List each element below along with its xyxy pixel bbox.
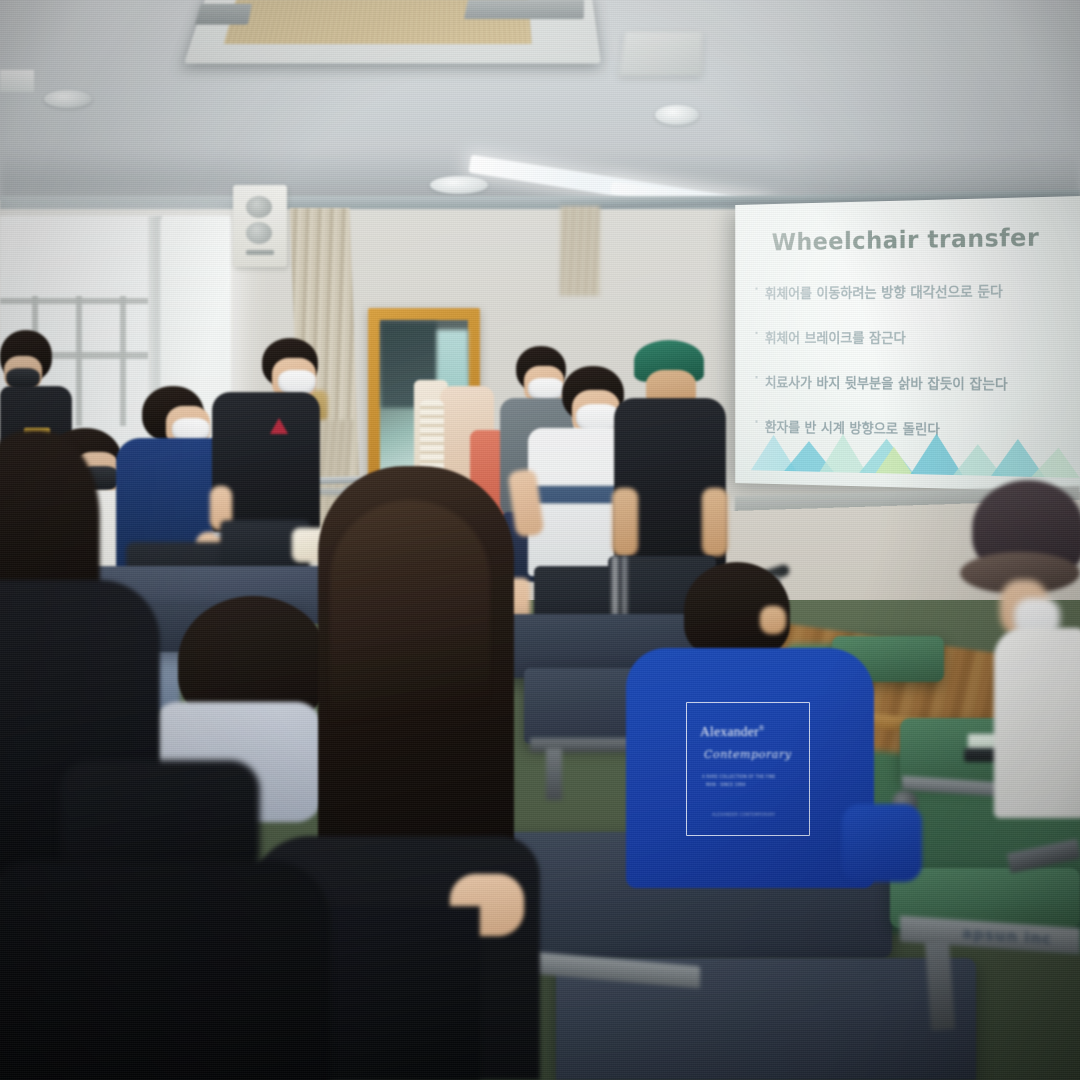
speaker-cone-icon xyxy=(246,222,272,244)
foreground-dark-mass xyxy=(0,860,330,1080)
slide-bullet-text: 치료사가 바지 뒷부분을 삵바 잡듯이 잡는다 xyxy=(765,372,1008,394)
slide-bullet-text: 휘체어 브레이크를 잠근다 xyxy=(765,328,906,348)
ceiling-ac-vent-right xyxy=(464,0,584,19)
mountain-triangles-icon xyxy=(735,427,1080,478)
slide-title: Wheelchair transfer xyxy=(735,222,1080,257)
classroom-photo: Wheelchair transfer · 휘체어를 이동하려는 방향 대각선으… xyxy=(0,0,1080,1080)
projection-screen: Wheelchair transfer · 휘체어를 이동하려는 방향 대각선으… xyxy=(735,196,1080,492)
slide-decoration-mountains xyxy=(735,427,1080,478)
slide-bullet: · 휘체어를 이동하려는 방향 대각선으로 둔다 xyxy=(754,280,1066,303)
shirt-print-footer: ALEXANDER CONTEMPORARY xyxy=(712,812,775,817)
window-bar xyxy=(0,298,150,304)
person-ear xyxy=(760,606,786,634)
speaker-label xyxy=(246,250,274,255)
window-bar xyxy=(76,296,82,426)
slide-bullet: · 휘체어 브레이크를 잠근다 xyxy=(754,327,1066,348)
shirt-print-brand: Alexander® xyxy=(700,724,765,740)
downlight-icon xyxy=(430,176,488,194)
speaker-cone-icon xyxy=(246,196,272,218)
ceiling-ac-vent-left xyxy=(195,4,252,25)
registered-mark-icon: ® xyxy=(759,725,765,733)
person-arm xyxy=(612,488,638,556)
downlight-icon xyxy=(44,90,92,108)
window-bar xyxy=(120,296,126,426)
shirt-print-script: Contemporary xyxy=(704,748,792,761)
person-arm xyxy=(842,804,922,882)
curtain-right xyxy=(560,206,600,296)
shirt-print-brand-text: Alexander xyxy=(700,724,759,739)
foreground-person-hair-highlight xyxy=(330,500,490,860)
projection-screen-surface: Wheelchair transfer · 휘체어를 이동하려는 방향 대각선으… xyxy=(735,196,1080,492)
person-torso-white-shirt xyxy=(994,628,1080,818)
bullet-dot-icon: · xyxy=(754,372,758,386)
slide-bullet: · 치료사가 바지 뒷부분을 삵바 잡듯이 잡는다 xyxy=(754,372,1066,395)
bullet-dot-icon: · xyxy=(754,284,758,298)
slide-bullet-text: 휘체어를 이동하려는 방향 대각선으로 둔다 xyxy=(765,281,1003,304)
downlight-icon xyxy=(0,70,34,92)
downlight-icon xyxy=(655,105,699,125)
table-leg xyxy=(546,748,562,800)
shirt-print-fine-line: A RARE COLLECTION OF THE FINE xyxy=(702,774,775,779)
person-arm xyxy=(702,488,728,556)
bullet-dot-icon: · xyxy=(754,328,758,341)
shirt-print-fine-line: MAN · SINCE 1994 xyxy=(706,782,746,787)
shirt-triangle-logo-icon xyxy=(270,418,288,434)
ceiling-vent xyxy=(619,32,703,76)
